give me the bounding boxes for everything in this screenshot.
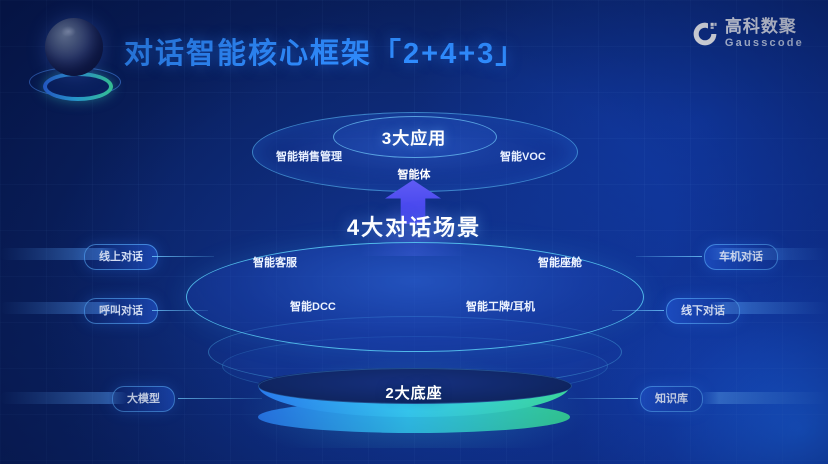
base-layer-title: 2大底座 bbox=[258, 382, 570, 403]
slide-canvas: 对话智能核心框架「2+4+3」 高科数聚 Gausscode 3大应用 智能销售… bbox=[0, 0, 828, 464]
brand-name-cn: 高科数聚 bbox=[725, 18, 804, 35]
connector-offline-chat bbox=[612, 310, 664, 311]
pill-online-chat[interactable]: 线上对话 bbox=[84, 244, 158, 270]
top-layer-item-agent: 智能体 bbox=[0, 166, 828, 182]
orbit-ring-inner-icon bbox=[43, 72, 113, 101]
mid-layer-title: 4大对话场景 bbox=[0, 210, 828, 242]
top-layer-item-voc: 智能VOC bbox=[500, 148, 546, 164]
pill-trail-large-model bbox=[0, 392, 128, 404]
connector-invehicle-chat bbox=[636, 256, 702, 257]
pill-trail-knowledge-base bbox=[700, 392, 828, 404]
pill-large-model[interactable]: 大模型 bbox=[112, 386, 175, 412]
connector-online-chat bbox=[152, 256, 214, 257]
pill-invehicle-chat[interactable]: 车机对话 bbox=[704, 244, 778, 270]
connector-knowledge-base bbox=[568, 398, 638, 399]
top-layer-title: 3大应用 bbox=[0, 124, 828, 149]
gausscode-g-mark-icon bbox=[692, 21, 718, 47]
brand-name-en: Gausscode bbox=[725, 38, 804, 49]
mid-layer-item-dcc: 智能DCC bbox=[290, 298, 336, 314]
mid-layer-item-cockpit: 智能座舱 bbox=[538, 254, 582, 270]
top-layer-item-sales: 智能销售管理 bbox=[276, 148, 342, 164]
pill-offline-chat[interactable]: 线下对话 bbox=[666, 298, 740, 324]
connector-large-model bbox=[178, 398, 262, 399]
page-title: 对话智能核心框架「2+4+3」 bbox=[124, 30, 526, 72]
pill-knowledge-base[interactable]: 知识库 bbox=[640, 386, 703, 412]
connector-call-chat bbox=[152, 310, 208, 311]
brand-text: 高科数聚 Gausscode bbox=[725, 18, 804, 49]
sphere-logo bbox=[26, 12, 122, 104]
pill-call-chat[interactable]: 呼叫对话 bbox=[84, 298, 158, 324]
mid-layer-item-badge-headset: 智能工牌/耳机 bbox=[466, 298, 535, 314]
mid-layer-item-customer-service: 智能客服 bbox=[253, 254, 297, 270]
brand-logo: 高科数聚 Gausscode bbox=[692, 18, 804, 49]
sphere-orb-icon bbox=[45, 18, 103, 76]
